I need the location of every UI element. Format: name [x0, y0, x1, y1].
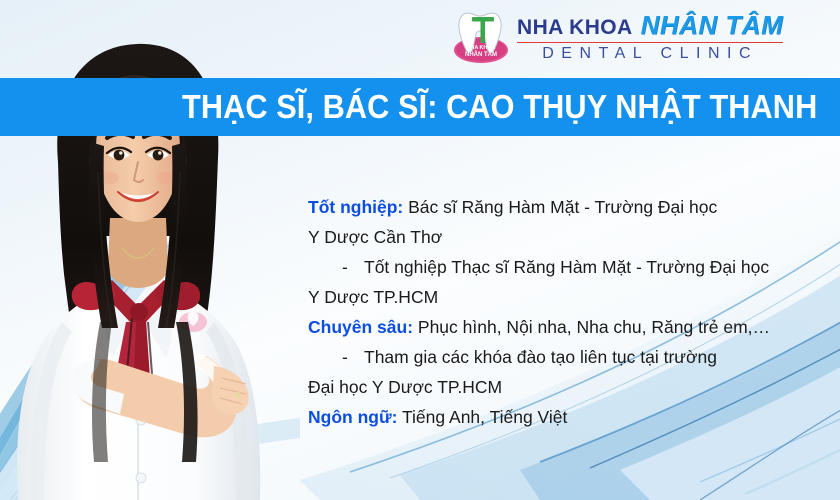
bio-line-master-cont: Y Dược TP.HCM: [308, 282, 828, 312]
tooth-logo-svg: NHA KHOA NHÂN TÂM: [452, 6, 510, 64]
logo-badge-bottom: NHÂN TÂM: [465, 51, 497, 58]
bio-line-training: -Tham gia các khóa đào tạo liên tục tại …: [308, 342, 828, 372]
doctor-bio: Tốt nghiệp: Bác sĩ Răng Hàm Mặt - Trường…: [308, 192, 828, 432]
logo-primary-line: NHA KHOA NHÂN TÂM: [517, 10, 783, 43]
bio-label-graduation: Tốt nghiệp:: [308, 197, 403, 217]
page-title: THẠC SĨ, BÁC SĨ: CAO THỤY NHẬT THANH: [182, 88, 817, 126]
bio-line-specialty: Chuyên sâu: Phục hình, Nội nha, Nha chu,…: [308, 312, 828, 342]
bio-label-specialty: Chuyên sâu:: [308, 317, 413, 337]
bio-value-specialty: Phục hình, Nội nha, Nha chu, Răng trẻ em…: [413, 317, 770, 337]
bio-line-graduation: Tốt nghiệp: Bác sĩ Răng Hàm Mặt - Trường…: [308, 192, 828, 222]
bio-value-master: Tốt nghiệp Thạc sĩ Răng Hàm Mặt - Trường…: [364, 257, 769, 277]
logo-prefix-text: NHA KHOA: [517, 16, 633, 40]
bullet-dash-master: -: [342, 252, 364, 282]
bullet-dash-training: -: [342, 342, 364, 372]
bio-value-training: Tham gia các khóa đào tạo liên tục tại t…: [364, 347, 717, 367]
tooth-logo-icon: NHA KHOA NHÂN TÂM: [452, 6, 510, 64]
bio-value-graduation: Bác sĩ Răng Hàm Mặt - Trường Đại học: [403, 197, 717, 217]
bio-line-graduation-cont: Y Dược Cần Thơ: [308, 222, 828, 252]
logo-badge-top: NHA KHOA: [467, 45, 496, 51]
bio-line-training-cont: Đại học Y Dược TP.HCM: [308, 372, 828, 402]
bio-label-languages: Ngôn ngữ:: [308, 407, 397, 427]
title-banner: THẠC SĨ, BÁC SĨ: CAO THỤY NHẬT THANH: [0, 78, 840, 136]
bio-value-languages: Tiếng Anh, Tiếng Việt: [397, 407, 567, 427]
logo-main-text: NHÂN TÂM: [641, 10, 784, 41]
logo-wordmark: NHA KHOA NHÂN TÂM DENTAL CLINIC: [517, 8, 783, 63]
bio-line-master: -Tốt nghiệp Thạc sĩ Răng Hàm Mặt - Trườn…: [308, 252, 828, 282]
logo-tagline: DENTAL CLINIC: [517, 45, 783, 63]
doctor-profile-poster: NHA KHOA NHÂN TÂM NHA KHOA NHÂN TÂM DENT…: [0, 0, 840, 500]
clinic-logo: NHA KHOA NHÂN TÂM NHA KHOA NHÂN TÂM DENT…: [452, 6, 783, 64]
bio-line-languages: Ngôn ngữ: Tiếng Anh, Tiếng Việt: [308, 402, 828, 432]
